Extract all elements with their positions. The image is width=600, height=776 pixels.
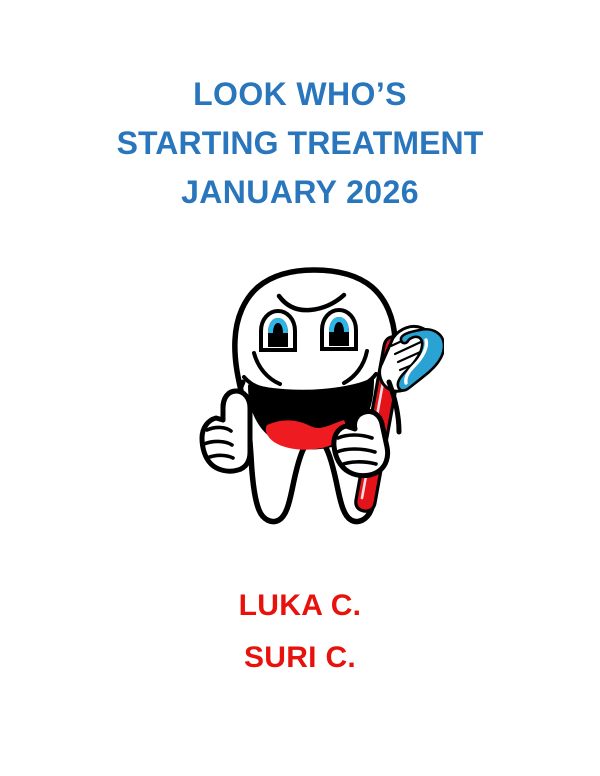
patient-name-1: LUKA C. [0,580,600,632]
heading-line-1: LOOK WHO’S [0,70,600,119]
tooth-mascot-illustration [186,258,444,533]
heading-line-3: JANUARY 2026 [0,168,600,217]
right-eye [322,310,356,349]
left-eye [261,311,295,350]
poster-heading: LOOK WHO’S STARTING TREATMENT JANUARY 20… [0,70,600,217]
left-arm-thumbs-up-group [202,382,250,471]
left-hand-fist [202,391,250,471]
tooth-mascot-svg [186,258,444,533]
patient-name-2: SURI C. [0,632,600,684]
heading-line-2: STARTING TREATMENT [0,119,600,168]
patient-names-list: LUKA C. SURI C. [0,580,600,684]
poster-page: LOOK WHO’S STARTING TREATMENT JANUARY 20… [0,0,600,776]
